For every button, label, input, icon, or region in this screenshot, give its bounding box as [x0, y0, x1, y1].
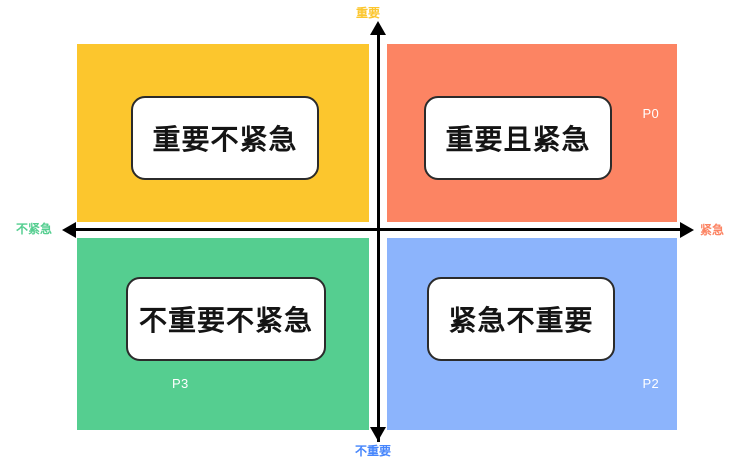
axis-label-not-important: 不重要 [355, 445, 391, 457]
horizontal-axis-line [70, 228, 686, 231]
quadrant-priority-code-p3: P3 [172, 377, 189, 390]
axis-label-not-urgent: 不紧急 [16, 223, 52, 235]
axis-label-urgent: 紧急 [700, 224, 724, 236]
quadrant-priority-code-p0: P0 [642, 107, 659, 120]
quadrant-priority-code-p2: P2 [642, 377, 659, 390]
priority-matrix-diagram: P1 P0 P3 P2 重要不紧急 重要且紧急 不重要不紧急 紧急不重要 重要 … [0, 0, 734, 470]
quadrant-label-box-p2: 紧急不重要 [427, 277, 615, 361]
quadrant-label-box-p3: 不重要不紧急 [126, 277, 326, 361]
arrow-up-icon [370, 21, 386, 35]
quadrant-label-box-p1: 重要不紧急 [131, 96, 319, 180]
axis-label-important: 重要 [356, 7, 380, 19]
vertical-axis-line [377, 30, 380, 442]
arrow-right-icon [680, 222, 694, 238]
quadrant-label-box-p0: 重要且紧急 [424, 96, 612, 180]
arrow-down-icon [370, 427, 386, 441]
arrow-left-icon [62, 222, 76, 238]
